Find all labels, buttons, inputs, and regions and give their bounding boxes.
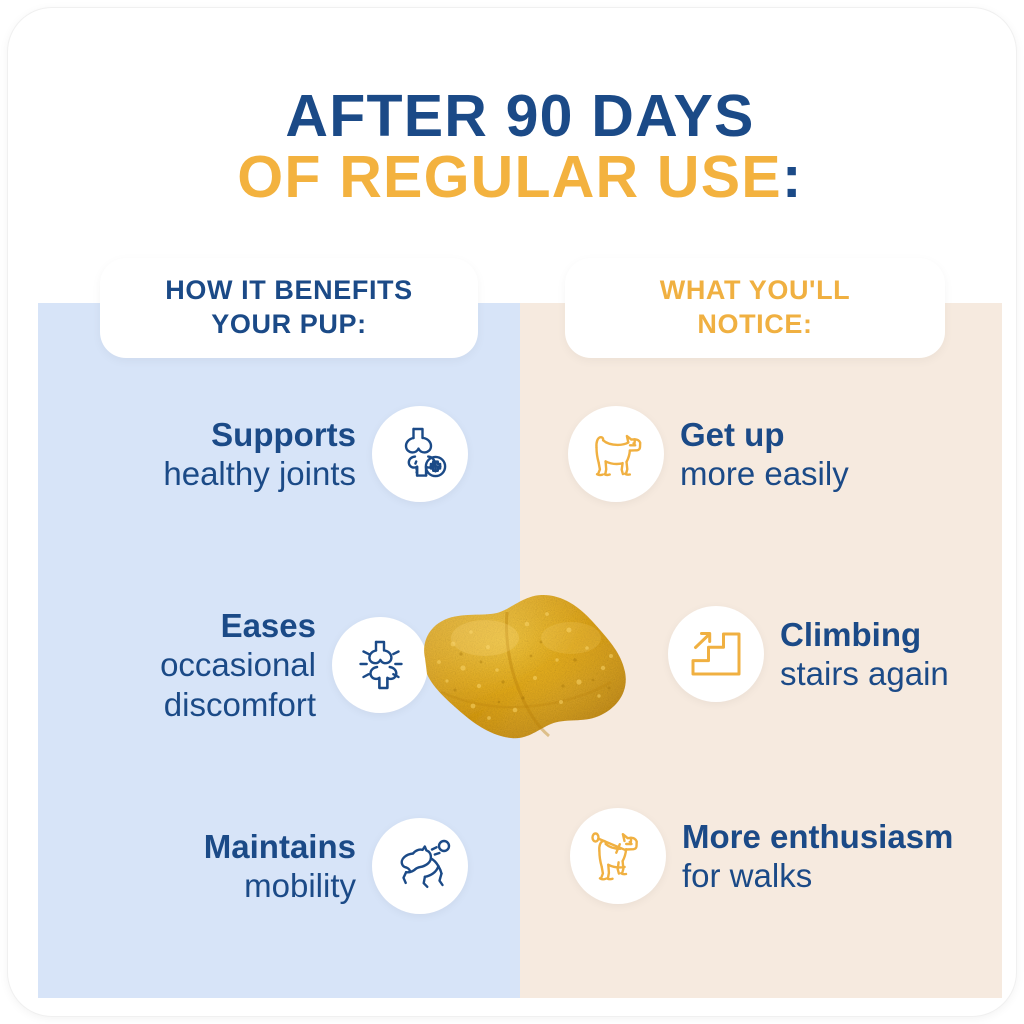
leaping-dog-ball-icon — [387, 835, 453, 897]
benefit-strong-right-1: Get up — [680, 416, 785, 453]
column-header-left-text: HOW IT BENEFITS YOUR PUP: — [151, 274, 427, 342]
column-header-left-line1: HOW IT BENEFITS — [165, 275, 413, 305]
benefit-text-left-2: Eases occasional discomfort — [28, 606, 332, 724]
card-frame: AFTER 90 DAYS OF REGULAR USE: HOW IT BEN… — [8, 8, 1016, 1016]
benefit-rest-left-1: healthy joints — [163, 455, 356, 492]
benefit-row-eases-occasional-discomfort: Eases occasional discomfort — [28, 606, 428, 724]
title-line-2: OF REGULAR USE: — [8, 147, 1016, 208]
benefit-text-left-1: Supports healthy joints — [163, 415, 372, 494]
benefit-text-right-2: Climbing stairs again — [764, 615, 949, 694]
benefit-rest-left-2: occasional discomfort — [160, 646, 316, 722]
column-header-left-line2: YOUR PUP: — [211, 309, 366, 339]
benefit-row-supports-healthy-joints: Supports healthy joints — [68, 406, 468, 502]
benefit-rest-left-3: mobility — [244, 867, 356, 904]
benefit-strong-left-1: Supports — [211, 416, 356, 453]
column-header-right-text: WHAT YOU'LL NOTICE: — [646, 274, 865, 342]
benefit-row-get-up-more-easily: Get up more easily — [568, 406, 988, 502]
standing-dog-icon — [584, 423, 648, 485]
column-header-right-line2: NOTICE: — [697, 309, 812, 339]
column-header-right-line1: WHAT YOU'LL — [660, 275, 851, 305]
dog-on-leash-icon — [586, 825, 650, 887]
benefit-text-right-1: Get up more easily — [664, 415, 849, 494]
benefit-text-left-3: Maintains mobility — [204, 827, 372, 906]
benefit-rest-right-2: stairs again — [780, 655, 949, 692]
benefit-row-more-enthusiasm-for-walks: More enthusiasm for walks — [570, 808, 990, 904]
benefit-rest-right-3: for walks — [682, 857, 812, 894]
title-line-1: AFTER 90 DAYS — [8, 86, 1016, 147]
benefit-row-climbing-stairs-again: Climbing stairs again — [668, 606, 998, 702]
icon-circle-right-2 — [668, 606, 764, 702]
bone-joint-radiating-icon — [349, 634, 411, 696]
icon-circle-right-1 — [568, 406, 664, 502]
icon-circle-right-3 — [570, 808, 666, 904]
page-title: AFTER 90 DAYS OF REGULAR USE: — [8, 86, 1016, 209]
title-line-2-text: OF REGULAR USE — [237, 144, 782, 210]
icon-circle-left-1 — [372, 406, 468, 502]
column-header-left: HOW IT BENEFITS YOUR PUP: — [100, 258, 478, 358]
bone-joint-medical-cross-icon — [389, 423, 451, 485]
benefit-strong-right-2: Climbing — [780, 616, 921, 653]
infographic-card: AFTER 90 DAYS OF REGULAR USE: HOW IT BEN… — [0, 0, 1024, 1024]
title-colon: : — [782, 144, 803, 210]
column-header-right: WHAT YOU'LL NOTICE: — [565, 258, 945, 358]
benefit-rest-right-1: more easily — [680, 455, 849, 492]
stairs-up-arrow-icon — [685, 623, 747, 685]
product-treat-image — [411, 586, 651, 761]
benefit-strong-right-3: More enthusiasm — [682, 818, 953, 855]
dog-treat-chew-graphic — [411, 586, 651, 761]
benefit-strong-left-3: Maintains — [204, 828, 356, 865]
benefit-row-maintains-mobility: Maintains mobility — [68, 818, 468, 914]
benefit-strong-left-2: Eases — [221, 607, 316, 644]
icon-circle-left-3 — [372, 818, 468, 914]
benefit-text-right-3: More enthusiasm for walks — [666, 817, 953, 896]
